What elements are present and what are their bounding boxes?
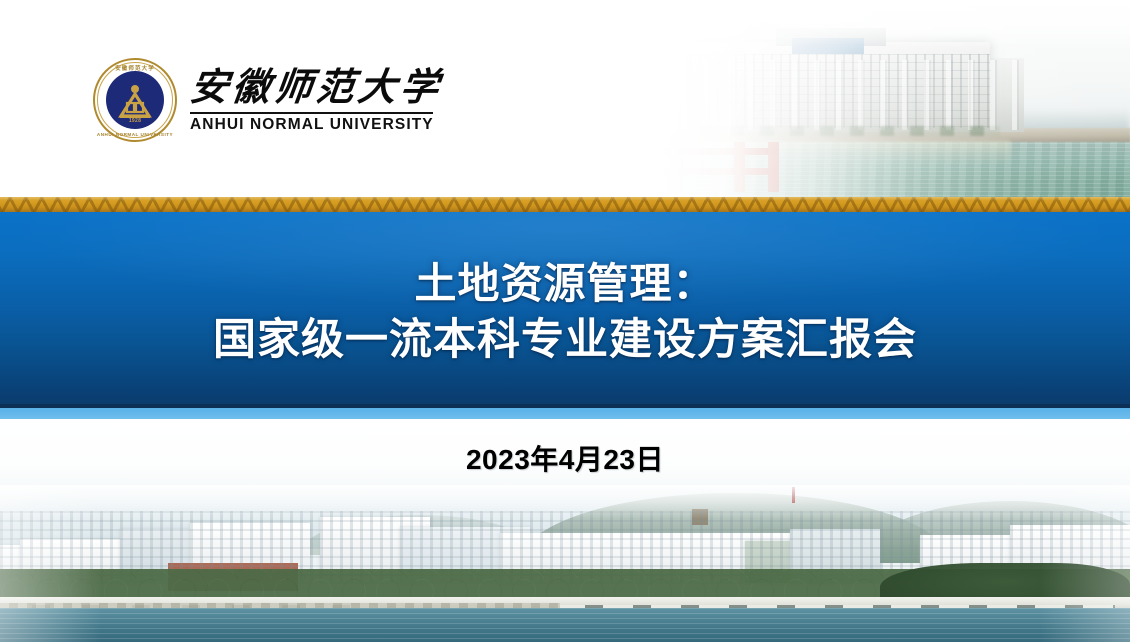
presentation-date: 2023年4月23日: [0, 438, 1130, 478]
photo-top-fade-overlay: [540, 0, 1130, 48]
seal-arc-bottom-text: ANHUI NORMAL UNIVERSITY: [92, 132, 178, 137]
university-wordmark: 安徽师范大学 ANHUI NORMAL UNIVERSITY: [190, 66, 442, 133]
slide-header: 安徽师范大学 1928 ANHUI NORMAL UNIVERSITY 安徽师范…: [0, 0, 1130, 197]
light-blue-stripe: [0, 408, 1130, 419]
gold-chevron-band: [0, 197, 1130, 212]
slide-title-line-1: 土地资源管理：: [0, 256, 1130, 312]
gold-band-highlight: [0, 197, 1130, 201]
wordmark-divider: [190, 112, 433, 114]
university-name-english: ANHUI NORMAL UNIVERSITY: [190, 116, 442, 134]
seal-founding-year: 1928: [92, 118, 178, 124]
university-seal-icon: 安徽师范大学 1928 ANHUI NORMAL UNIVERSITY: [92, 57, 178, 143]
panorama-edge-fade-overlay: [0, 485, 1130, 642]
seal-character-mark-icon: [114, 85, 156, 119]
title-banner: 土地资源管理： 国家级一流本科专业建设方案汇报会: [0, 212, 1130, 408]
university-name-chinese: 安徽师范大学: [187, 68, 444, 109]
campus-panorama-photo: [0, 485, 1130, 642]
slide-title-line-2: 国家级一流本科专业建设方案汇报会: [0, 312, 1130, 369]
campus-library-waterfront-photo: [540, 0, 1130, 197]
presentation-title-slide: 安徽师范大学 1928 ANHUI NORMAL UNIVERSITY 安徽师范…: [0, 0, 1130, 642]
slide-title: 土地资源管理： 国家级一流本科专业建设方案汇报会: [0, 256, 1130, 369]
university-logo: 安徽师范大学 1928 ANHUI NORMAL UNIVERSITY 安徽师范…: [92, 57, 442, 143]
